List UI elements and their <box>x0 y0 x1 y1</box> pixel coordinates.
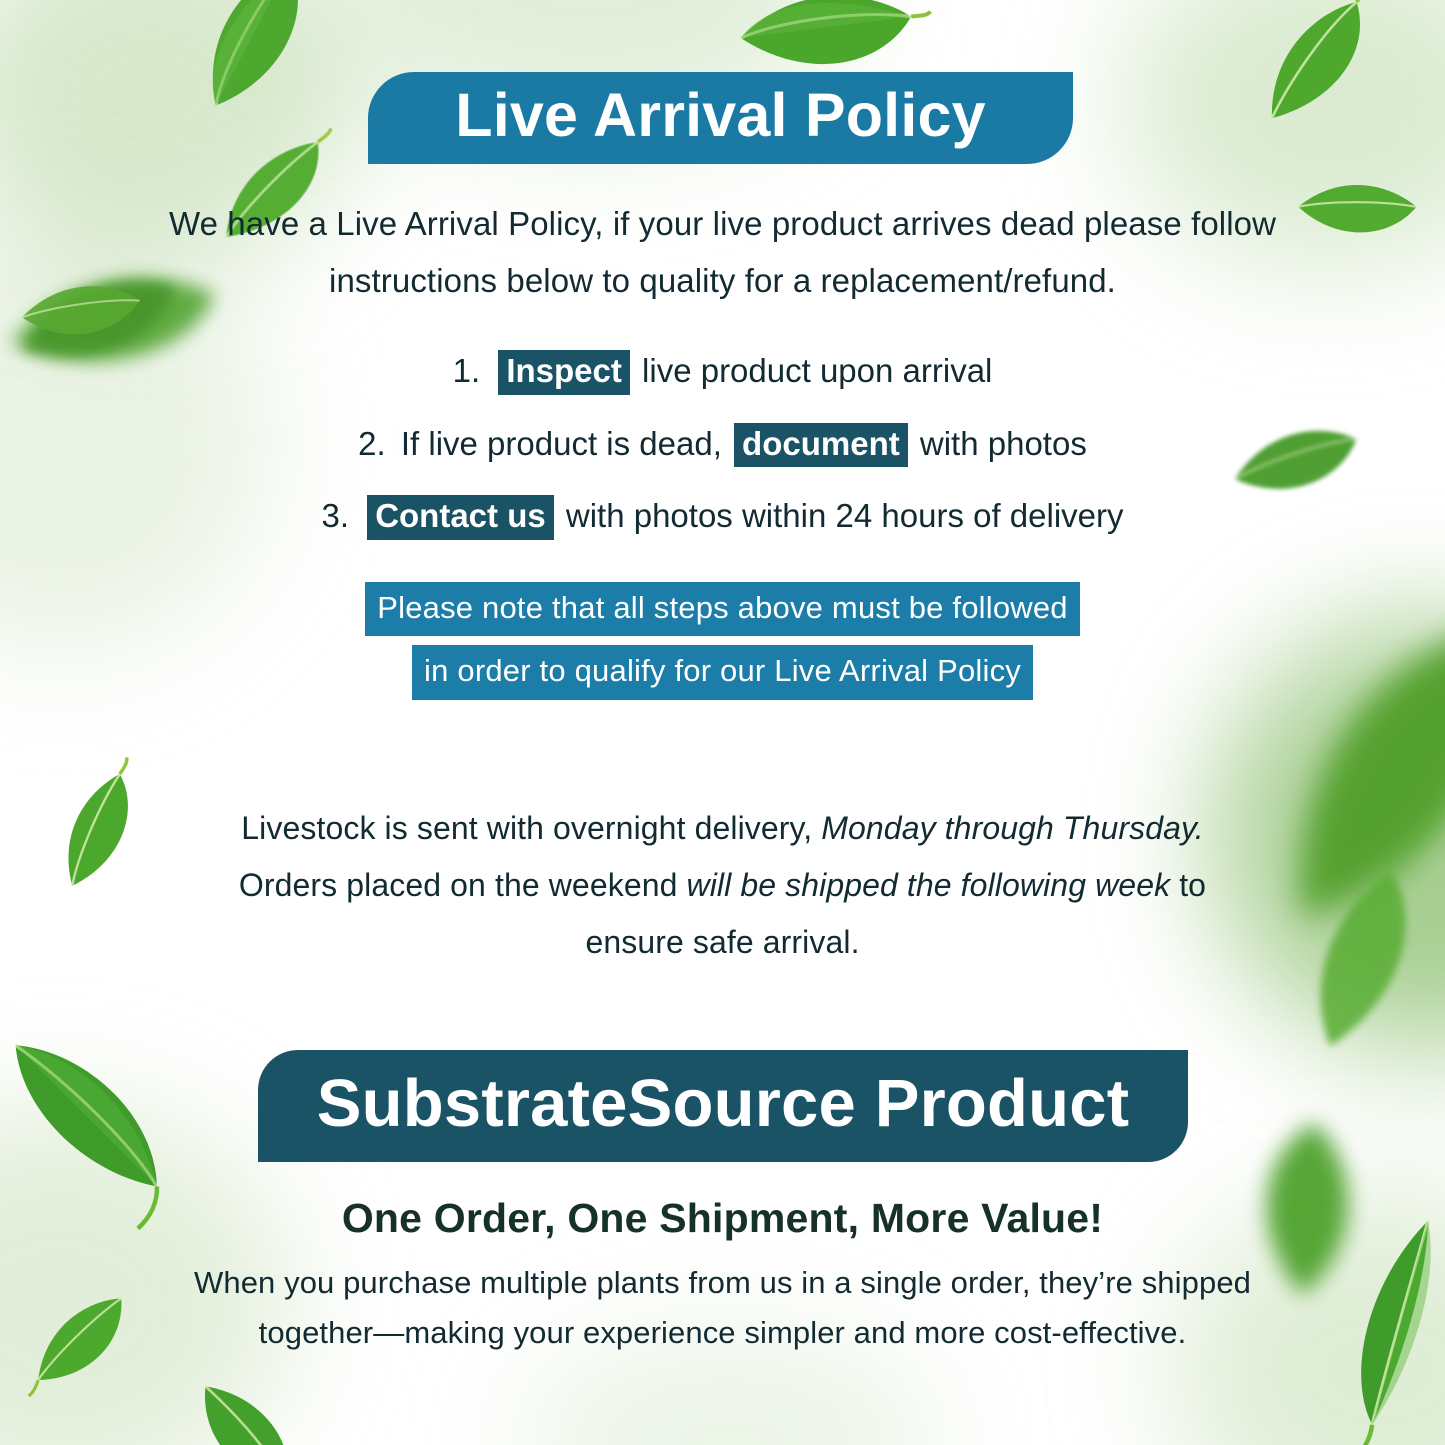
substratesource-product-banner: SubstrateSource Product <box>258 1050 1188 1162</box>
policy-intro-paragraph: We have a Live Arrival Policy, if your l… <box>150 196 1295 310</box>
note-line-2: in order to qualify for our Live Arrival… <box>412 645 1033 699</box>
shipping-schedule-paragraph: Livestock is sent with overnight deliver… <box>190 800 1255 971</box>
step-highlight-contact-us: Contact us <box>367 495 554 540</box>
step-text-after: with photos <box>920 425 1087 462</box>
shipping-text-1: Livestock is sent with overnight deliver… <box>241 810 821 846</box>
step-number: 3. <box>321 497 349 534</box>
content-root: Live Arrival Policy We have a Live Arriv… <box>0 0 1445 1445</box>
step-text-before: If live product is dead, <box>401 425 722 462</box>
shipping-text-italic-1: Monday through Thursday. <box>821 810 1203 846</box>
live-arrival-policy-banner: Live Arrival Policy <box>368 72 1073 164</box>
list-item: 2. If live product is dead, document wit… <box>150 423 1295 468</box>
policy-infographic: Live Arrival Policy We have a Live Arriv… <box>0 0 1445 1445</box>
step-number: 1. <box>453 352 481 389</box>
list-item: 1. Inspect live product upon arrival <box>150 350 1295 395</box>
note-line-1: Please note that all steps above must be… <box>365 582 1080 636</box>
value-headline: One Order, One Shipment, More Value! <box>150 1194 1295 1243</box>
step-text-after: live product upon arrival <box>642 352 992 389</box>
shipping-text-2: Orders placed on the weekend <box>239 867 687 903</box>
step-text-after: with photos within 24 hours of delivery <box>566 497 1124 534</box>
policy-note-block: Please note that all steps above must be… <box>150 582 1295 709</box>
shipping-text-italic-2: will be shipped the following week <box>687 867 1171 903</box>
step-number: 2. <box>358 425 386 462</box>
policy-steps-list: 1. Inspect live product upon arrival 2. … <box>150 350 1295 568</box>
step-highlight-document: document <box>734 423 908 468</box>
list-item: 3. Contact us with photos within 24 hour… <box>150 495 1295 540</box>
value-paragraph: When you purchase multiple plants from u… <box>170 1258 1275 1358</box>
step-highlight-inspect: Inspect <box>498 350 630 395</box>
